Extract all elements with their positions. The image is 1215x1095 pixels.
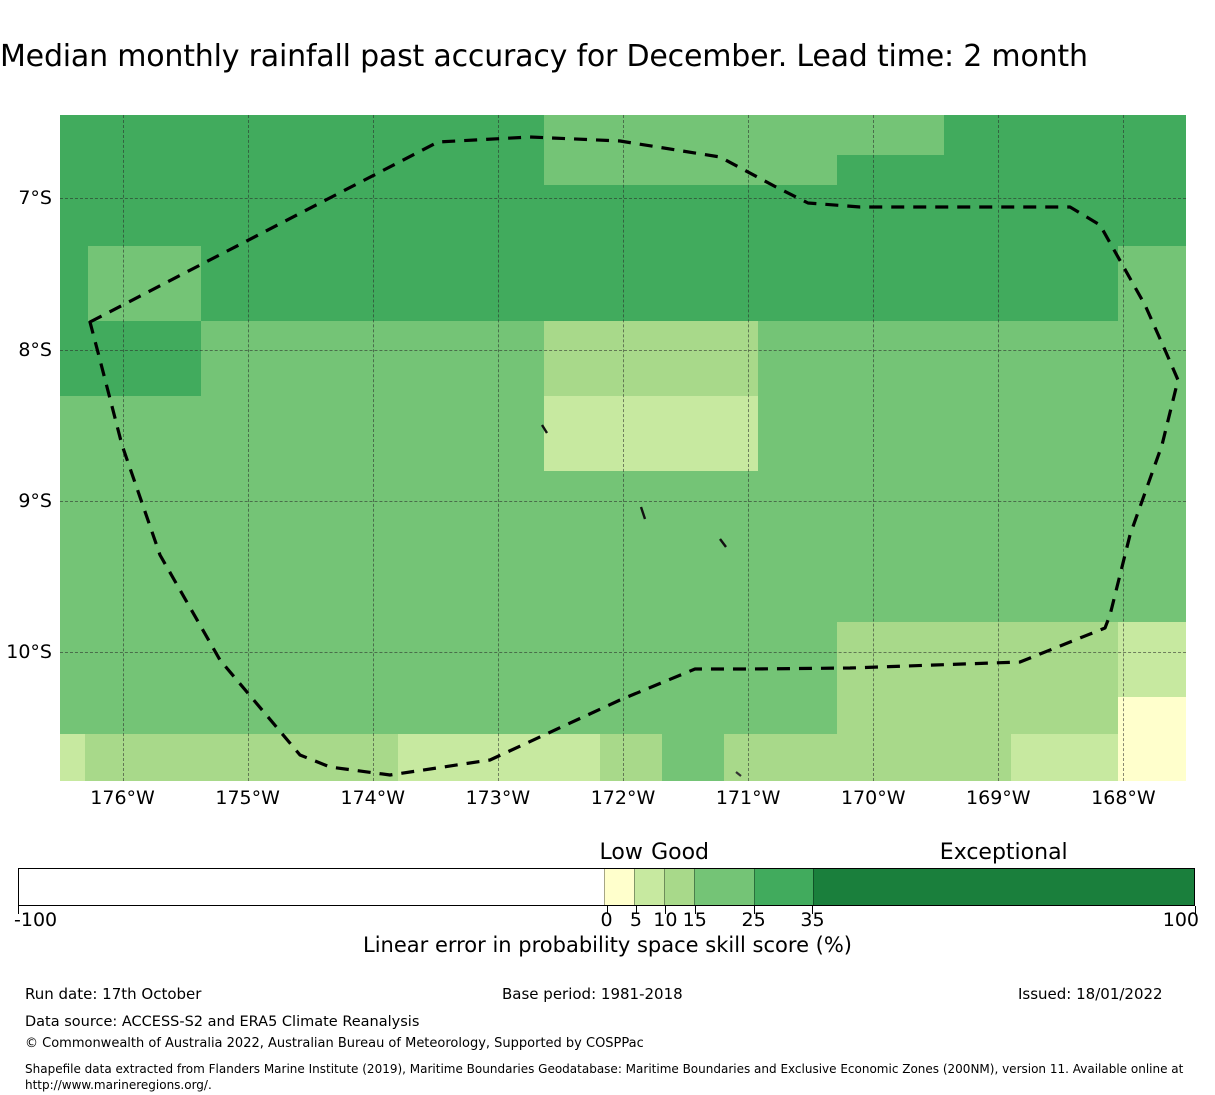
x-tick-label-4: 172°W: [591, 786, 656, 810]
footer-meta-row: Run date: 17th October Base period: 1981…: [0, 985, 1215, 1007]
heatmap-cell: [662, 734, 725, 781]
heatmap-cell: [1118, 321, 1186, 397]
colorbar-tick-label-3: 10: [653, 908, 677, 932]
footer-base-period: Base period: 1981-2018: [502, 985, 683, 1003]
heatmap-cell: [1118, 697, 1186, 735]
footer: Run date: 17th October Base period: 1981…: [0, 985, 1215, 1007]
colorbar[interactable]: [18, 868, 1195, 906]
gridline-vertical: [123, 115, 124, 781]
colorbar-tick-label-2: 5: [630, 908, 642, 932]
heatmap-cell: [201, 321, 433, 397]
colorbar-segment-4: [694, 869, 753, 905]
heatmap-cell: [944, 321, 1119, 397]
gridline-vertical: [1123, 115, 1124, 781]
gridline-vertical: [373, 115, 374, 781]
colorbar-tick-label-7: 100: [1163, 908, 1199, 932]
colorbar-segment-3: [664, 869, 694, 905]
heatmap-cell: [600, 734, 663, 781]
colorbar-segment-5: [754, 869, 813, 905]
gridline-horizontal: [60, 501, 1186, 502]
gridline-vertical: [248, 115, 249, 781]
heatmap-cell: [432, 246, 545, 322]
heatmap-cell: [88, 246, 201, 322]
heatmap-cell: [60, 115, 432, 246]
heatmap-cell: [88, 321, 201, 397]
heatmap-cell: [944, 115, 1186, 246]
heatmap-cell: [1118, 622, 1186, 698]
colorbar-category-exceptional: Exceptional: [940, 840, 1068, 866]
heatmap-cell: [88, 396, 545, 472]
heatmap-cell: [837, 115, 945, 156]
heatmap-cell: [432, 115, 545, 246]
heatmap-cell: [544, 396, 759, 472]
footer-shapefile-note: Shapefile data extracted from Flanders M…: [25, 1061, 1200, 1093]
heatmap-cell: [837, 622, 1119, 698]
heatmap-cell: [758, 185, 944, 246]
colorbar-segment-0: [19, 869, 604, 905]
x-tick-label-5: 171°W: [716, 786, 781, 810]
gridline-vertical: [498, 115, 499, 781]
heatmap-cell: [60, 321, 89, 397]
heatmap-cell: [837, 734, 1012, 781]
x-tick-label-1: 175°W: [215, 786, 280, 810]
heatmap-cell: [60, 697, 838, 735]
footer-copyright: © Commonwealth of Australia 2022, Austra…: [25, 1035, 644, 1053]
footer-issued-date: Issued: 18/01/2022: [1018, 985, 1163, 1003]
y-tick-label-1: 8°S: [0, 339, 52, 361]
colorbar-axis-label: Linear error in probability space skill …: [0, 932, 1215, 958]
y-tick-label-2: 9°S: [0, 490, 52, 512]
x-tick-label-6: 170°W: [841, 786, 906, 810]
colorbar-tick-label-0: -100: [14, 908, 57, 932]
colorbar-category-low: Low: [600, 840, 643, 866]
gridline-vertical: [998, 115, 999, 781]
colorbar-segment-6: [813, 869, 1194, 905]
footer-run-date: Run date: 17th October: [25, 985, 201, 1003]
footer-data-source: Data source: ACCESS-S2 and ERA5 Climate …: [25, 1013, 419, 1032]
x-tick-label-8: 168°W: [1091, 786, 1156, 810]
y-tick-label-3: 10°S: [0, 641, 52, 663]
heatmap-cell: [1011, 734, 1119, 781]
heatmap-cell: [837, 155, 945, 186]
heatmap-cell: [85, 734, 399, 781]
x-tick-label-7: 169°W: [966, 786, 1031, 810]
heatmap-cell: [1118, 734, 1186, 781]
colorbar-tick-label-4: 15: [683, 908, 707, 932]
page-title: Median monthly rainfall past accuracy fo…: [0, 38, 1215, 76]
gridline-horizontal: [60, 198, 1186, 199]
heatmap-cell: [837, 697, 1119, 735]
heatmap-cell: [944, 246, 1119, 322]
heatmap-cell: [544, 185, 759, 246]
heatmap-cell: [60, 396, 89, 472]
gridline-horizontal: [60, 652, 1186, 653]
heatmap-cell: [758, 396, 1186, 472]
heatmap-cell: [758, 321, 944, 397]
x-tick-label-2: 174°W: [340, 786, 405, 810]
heatmap-cell: [60, 622, 838, 698]
heatmap-cell: [544, 321, 759, 397]
colorbar-segment-2: [634, 869, 664, 905]
map-plot-area: [60, 115, 1186, 781]
heatmap-cell: [398, 734, 601, 781]
colorbar-tick-label-1: 0: [600, 908, 612, 932]
heatmap-cell: [60, 734, 85, 781]
heatmap-cell: [201, 246, 433, 322]
heatmap-cell: [60, 246, 89, 322]
x-tick-label-3: 173°W: [466, 786, 531, 810]
heatmap-cell: [432, 321, 545, 397]
colorbar-tick-label-5: 25: [742, 908, 766, 932]
gridline-vertical: [748, 115, 749, 781]
colorbar-segment-1: [604, 869, 634, 905]
y-tick-label-0: 7°S: [0, 187, 52, 209]
colorbar-gradient: [18, 868, 1195, 906]
heatmap-cell: [724, 734, 837, 781]
gridline-vertical: [623, 115, 624, 781]
heatmap-cell: [544, 246, 944, 322]
gridline-horizontal: [60, 350, 1186, 351]
gridline-vertical: [873, 115, 874, 781]
colorbar-tick-label-6: 35: [800, 908, 824, 932]
heatmap-cell: [1118, 246, 1186, 322]
colorbar-category-good: Good: [651, 840, 709, 866]
x-tick-label-0: 176°W: [90, 786, 155, 810]
